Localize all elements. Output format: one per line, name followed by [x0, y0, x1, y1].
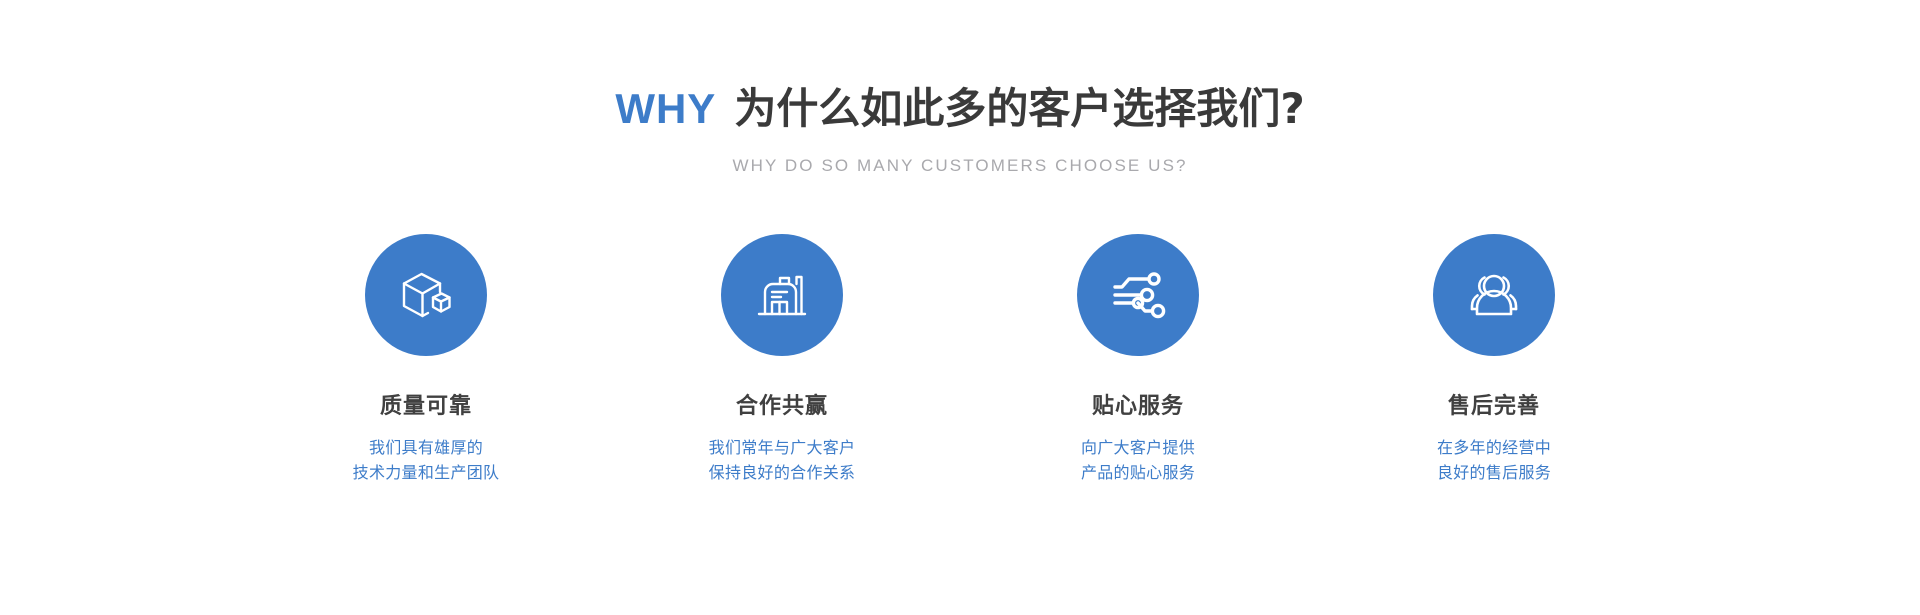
feature-card-title: 质量可靠	[380, 388, 472, 420]
section-subtitle: WHY DO SO MANY CUSTOMERS CHOOSE US?	[0, 156, 1920, 176]
feature-card[interactable]: 贴心服务 向广大客户提供 产品的贴心服务	[1018, 234, 1258, 485]
feature-card[interactable]: 售后完善 在多年的经营中 良好的售后服务	[1374, 234, 1614, 485]
feature-card-list: 质量可靠 我们具有雄厚的 技术力量和生产团队	[306, 234, 1614, 485]
feature-desc-line-2: 良好的售后服务	[1437, 460, 1551, 485]
users-group-icon	[1463, 264, 1525, 326]
icon-circle-quality	[365, 234, 487, 356]
title-prefix-why: WHY	[615, 85, 716, 132]
feature-card-description: 向广大客户提供 产品的贴心服务	[1081, 435, 1195, 485]
why-choose-us-section: WHY为什么如此多的客户选择我们? WHY DO SO MANY CUSTOME…	[0, 0, 1920, 615]
feature-card-title: 售后完善	[1448, 388, 1540, 420]
feature-card-title: 合作共赢	[736, 388, 828, 420]
feature-desc-line-1: 我们常年与广大客户	[709, 435, 856, 460]
circuit-nodes-icon	[1107, 264, 1169, 326]
feature-desc-line-2: 技术力量和生产团队	[353, 460, 500, 485]
page-title: WHY为什么如此多的客户选择我们?	[0, 86, 1920, 132]
feature-card-description: 我们具有雄厚的 技术力量和生产团队	[353, 435, 500, 485]
package-box-icon	[395, 264, 457, 326]
feature-card-description: 在多年的经营中 良好的售后服务	[1437, 435, 1551, 485]
feature-desc-line-1: 向广大客户提供	[1081, 435, 1195, 460]
feature-desc-line-2: 产品的贴心服务	[1081, 460, 1195, 485]
factory-icon	[751, 264, 813, 326]
icon-circle-cooperation	[721, 234, 843, 356]
feature-card-title: 贴心服务	[1092, 388, 1184, 420]
feature-card-description: 我们常年与广大客户 保持良好的合作关系	[709, 435, 856, 485]
section-heading: WHY为什么如此多的客户选择我们? WHY DO SO MANY CUSTOME…	[0, 86, 1920, 176]
feature-desc-line-1: 我们具有雄厚的	[353, 435, 500, 460]
feature-desc-line-1: 在多年的经营中	[1437, 435, 1551, 460]
icon-circle-aftersales	[1433, 234, 1555, 356]
feature-card[interactable]: 合作共赢 我们常年与广大客户 保持良好的合作关系	[662, 234, 902, 485]
feature-desc-line-2: 保持良好的合作关系	[709, 460, 856, 485]
title-main-chinese: 为什么如此多的客户选择我们?	[734, 84, 1304, 133]
feature-card[interactable]: 质量可靠 我们具有雄厚的 技术力量和生产团队	[306, 234, 546, 485]
icon-circle-service	[1077, 234, 1199, 356]
